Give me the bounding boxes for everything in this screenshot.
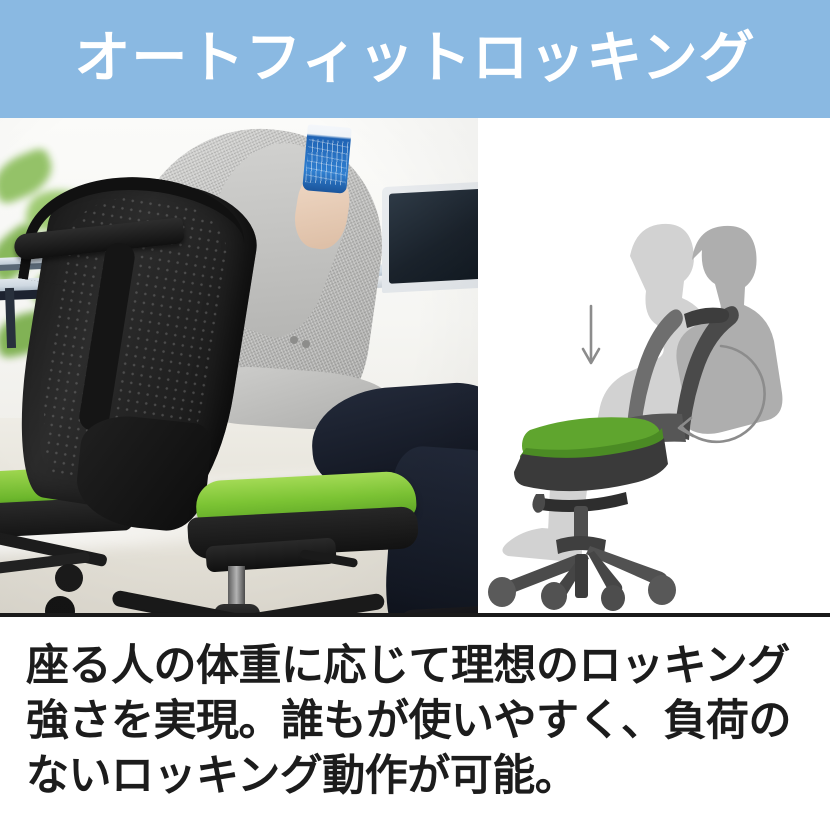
header-band: オートフィットロッキング [0, 0, 830, 118]
content-row [0, 118, 830, 615]
rocking-diagram [478, 118, 830, 615]
page-title: オートフィットロッキング [74, 31, 755, 87]
caption-line-2: 強さを実現。誰もが使いやすく、負荷の [26, 694, 804, 749]
diagram-chair-base [488, 506, 676, 611]
promo-page: オートフィットロッキング [0, 0, 830, 830]
product-photo [0, 118, 478, 615]
photo-vignette [0, 118, 478, 615]
weight-down-arrow [583, 306, 599, 363]
caption-line-1: 座る人の体重に応じて理想のロッキング [26, 639, 804, 694]
caption-block: 座る人の体重に応じて理想のロッキング 強さを実現。誰もが使いやすく、負荷の ない… [0, 617, 830, 830]
caption-line-3: ないロッキング動作が可能。 [26, 749, 804, 804]
